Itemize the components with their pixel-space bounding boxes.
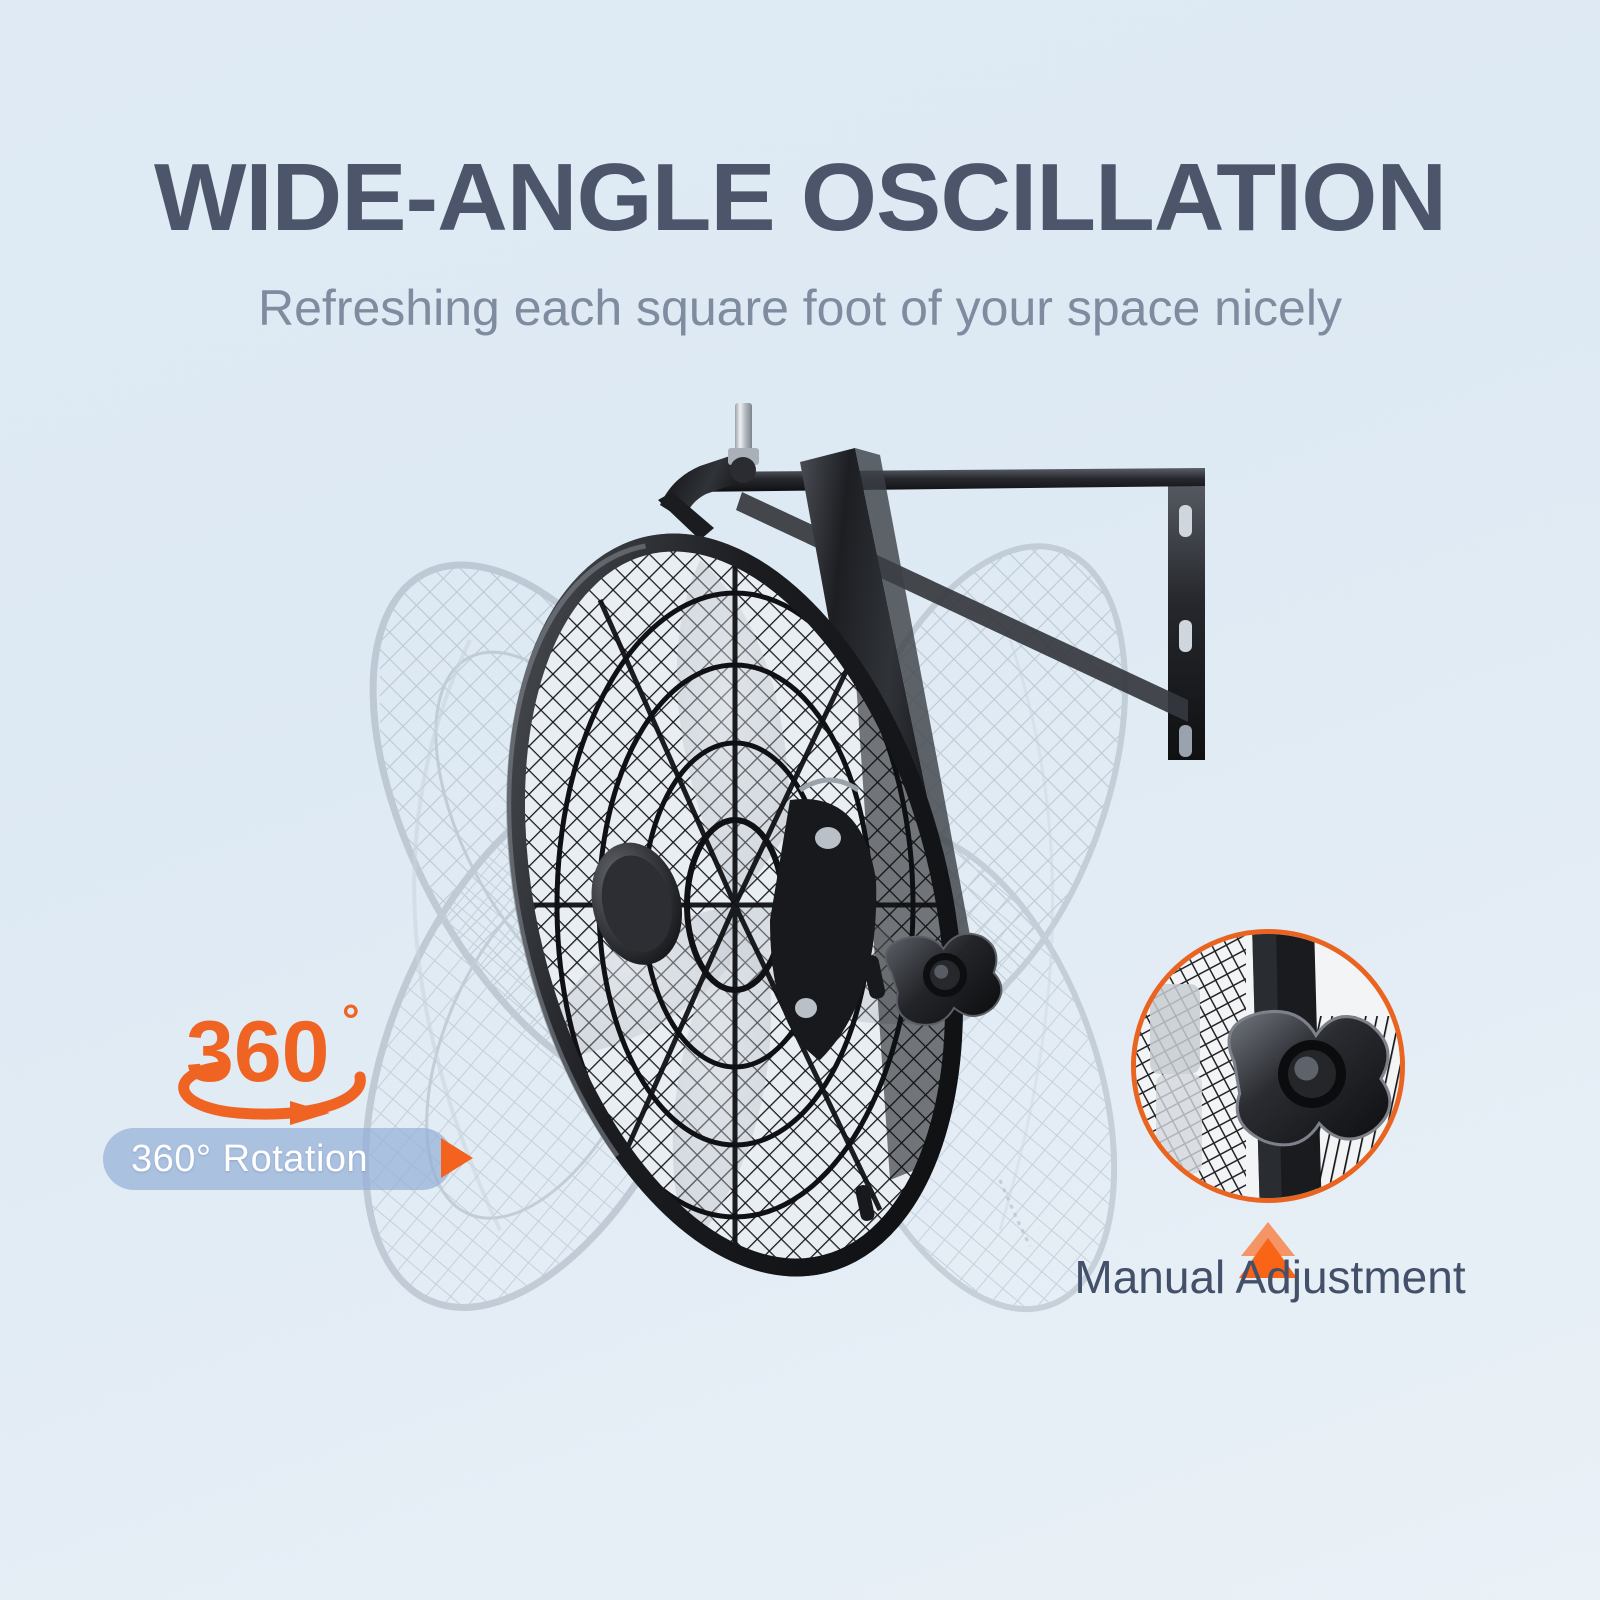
product-feature-banner: WIDE-ANGLE OSCILLATION Refreshing each s… xyxy=(0,0,1600,1600)
rotation-badge: 360° Rotation xyxy=(103,1128,453,1190)
360-rotation-icon: 360 ° xyxy=(160,995,390,1130)
svg-text:360: 360 xyxy=(186,1004,330,1100)
manual-adjustment-label: Manual Adjustment xyxy=(1010,1250,1530,1304)
svg-text:°: ° xyxy=(342,996,360,1045)
rotation-badge-label: 360° Rotation xyxy=(131,1138,368,1181)
triangle-right-icon xyxy=(441,1138,473,1178)
manual-adjustment-detail-inset xyxy=(1131,929,1405,1203)
page-subtitle: Refreshing each square foot of your spac… xyxy=(0,283,1600,333)
page-title: WIDE-ANGLE OSCILLATION xyxy=(0,150,1600,246)
